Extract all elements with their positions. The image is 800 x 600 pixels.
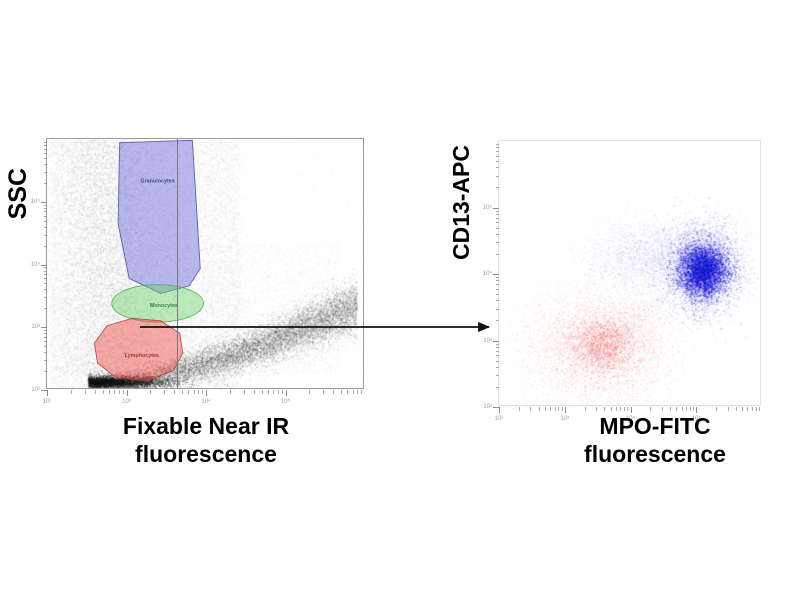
gate-label-monocytes: Monocytes (150, 303, 178, 309)
tick-label: 10² (43, 399, 52, 405)
live-dead-divider-line[interactable] (177, 139, 178, 388)
flow-cytometry-figure: SSC GranulocytesMonocytesLymphocytes 10²… (0, 0, 800, 600)
gate-label-granulocytes: Granulocytes (140, 179, 174, 185)
gate-lymphocytes[interactable] (94, 318, 182, 380)
left-panel-caption: Fixable Near IR fluorescence (36, 412, 376, 468)
tick-label: 10³ (122, 399, 131, 405)
gate-label-lymphocytes: Lymphocytes (125, 353, 159, 359)
tick-label: 10² (31, 387, 40, 393)
tick-label: 10³ (483, 338, 492, 344)
tick-label: 10⁴ (483, 271, 492, 277)
right-panel-caption: MPO-FITC fluorescence (530, 412, 780, 468)
tick-label: 10⁴ (201, 399, 210, 405)
y-axis-label-ssc: SSC (4, 168, 33, 219)
tick-label: 10⁵ (281, 399, 290, 405)
tick-label: 10³ (31, 324, 40, 330)
right-plot-area: 10²10³10⁴10⁵ 10²10³10⁴10⁵ (498, 140, 761, 406)
tick-label: 10² (483, 404, 492, 410)
tick-label: 10² (495, 416, 504, 422)
caption-left-line1: Fixable Near IR (36, 412, 376, 440)
caption-right-line2: fluorescence (530, 440, 780, 468)
left-gate-overlay: GranulocytesMonocytesLymphocytes (47, 139, 363, 388)
caption-right-line1: MPO-FITC (530, 412, 780, 440)
right-dot-cloud (499, 141, 760, 405)
caption-left-line2: fluorescence (36, 440, 376, 468)
y-axis-label-cd13-apc: CD13-APC (448, 145, 475, 260)
tick-label: 10⁴ (31, 262, 40, 268)
tick-label: 10⁵ (483, 205, 492, 211)
left-plot-area: GranulocytesMonocytesLymphocytes 10²10³1… (46, 138, 364, 389)
gate-granulocytes[interactable] (118, 140, 200, 293)
